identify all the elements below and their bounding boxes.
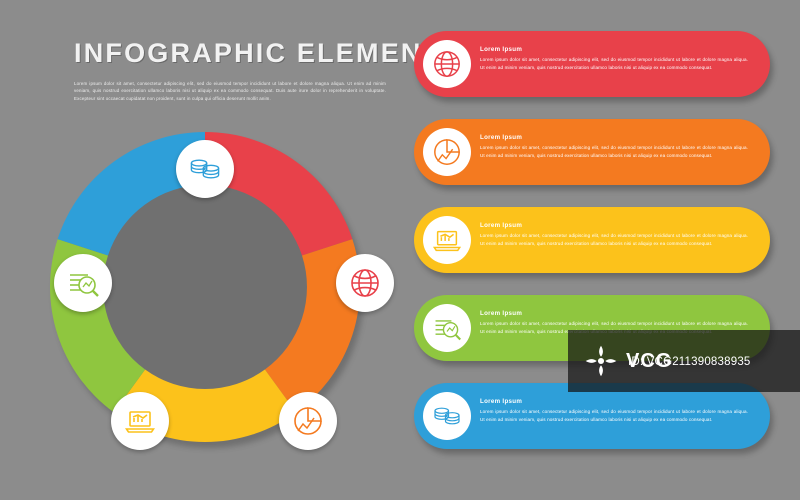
database-icon (188, 152, 222, 186)
bar-body: Lorem ipsum dolor sit amet, consectetur … (480, 144, 748, 159)
globe-icon (349, 267, 381, 299)
bar-title: Lorem Ipsum (480, 398, 748, 405)
bar-title: Lorem Ipsum (480, 134, 748, 141)
bar-body: Lorem ipsum dolor sit amet, consectetur … (480, 408, 748, 423)
donut-icon-database[interactable] (176, 140, 234, 198)
page-title: INFOGRAPHIC ELEMENTS (74, 38, 462, 69)
donut-icon-magnifier-document[interactable] (54, 254, 112, 312)
infographic-canvas: INFOGRAPHIC ELEMENTS Lorem ipsum dolor s… (0, 0, 800, 500)
donut-chart (48, 130, 374, 456)
vcg-leaf-icon (584, 344, 618, 378)
bar-title: Lorem Ipsum (480, 222, 748, 229)
donut-icon-pie-chart[interactable] (279, 392, 337, 450)
laptop-chart-icon (432, 225, 462, 255)
pie-chart-icon (432, 137, 462, 167)
bar-icon-database (423, 392, 471, 440)
bar-text: Lorem Ipsum Lorem ipsum dolor sit amet, … (480, 46, 748, 71)
bar-icon-pie-chart (423, 128, 471, 176)
bar-icon-laptop-chart (423, 216, 471, 264)
globe-icon (432, 49, 462, 79)
list-item[interactable]: Lorem Ipsum Lorem ipsum dolor sit amet, … (414, 207, 770, 273)
list-item[interactable]: Lorem Ipsum Lorem ipsum dolor sit amet, … (414, 119, 770, 185)
bar-text: Lorem Ipsum Lorem ipsum dolor sit amet, … (480, 398, 748, 423)
bar-title: Lorem Ipsum (480, 310, 748, 317)
list-item[interactable]: Lorem Ipsum Lorem ipsum dolor sit amet, … (414, 383, 770, 449)
magnifier-document-icon (66, 266, 100, 300)
bar-text: Lorem Ipsum Lorem ipsum dolor sit amet, … (480, 222, 748, 247)
bar-icon-globe (423, 40, 471, 88)
donut-icon-globe[interactable] (336, 254, 394, 312)
list-item[interactable]: Lorem Ipsum Lorem ipsum dolor sit amet, … (414, 31, 770, 97)
page-subtitle: Lorem ipsum dolor sit amet, consectetur … (74, 80, 386, 102)
pie-chart-icon (292, 405, 324, 437)
watermark-id: ID: VCG211390838935 (628, 356, 751, 368)
bar-text: Lorem Ipsum Lorem ipsum dolor sit amet, … (480, 134, 748, 159)
bar-icon-magnifier-document (423, 304, 471, 352)
bar-title: Lorem Ipsum (480, 46, 748, 53)
bar-body: Lorem ipsum dolor sit amet, consectetur … (480, 232, 748, 247)
donut-icon-laptop-chart[interactable] (111, 392, 169, 450)
magnifier-document-icon (432, 313, 462, 343)
bar-body: Lorem ipsum dolor sit amet, consectetur … (480, 56, 748, 71)
laptop-chart-icon (124, 405, 156, 437)
database-icon (432, 401, 462, 431)
